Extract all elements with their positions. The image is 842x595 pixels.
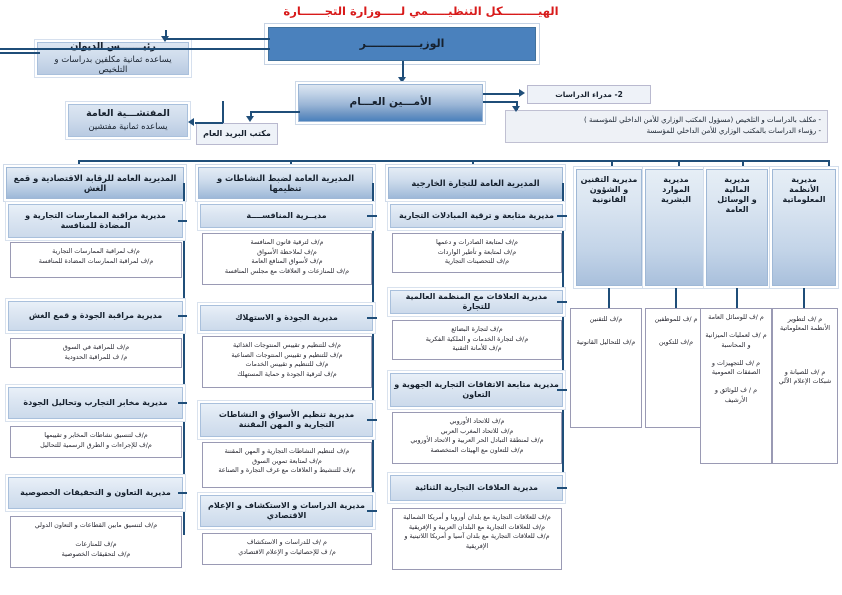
it-detail-1: م /ف للصيانة و شبكات الإعلام الآلي: [777, 368, 833, 387]
dept-detail-it: م /ف لتطوير الأنظمة المعلوماتية م /ف للص…: [772, 308, 838, 464]
arrow-secgen-note: [512, 106, 520, 112]
dept-header-finance[interactable]: مديرية المالية و الوسائل العامة: [706, 169, 768, 286]
node-diwan-subtitle: يساعده ثمانية مكلفين بدراسات و التلخيص: [41, 55, 185, 76]
connector-c3-0: [557, 215, 567, 217]
arrow-minister-secgen: [398, 77, 406, 83]
subdir-detail-c1-2: م/ف لتنسيق نشاطات المخابر و تقييمها م/ف …: [10, 426, 182, 458]
subdir-head-c3-0[interactable]: مديرية متابعة و ترقية المبادلات التجارية: [390, 204, 563, 228]
dept-header-fraud[interactable]: المديرية العامة للرقابة الاقتصادية و قمع…: [6, 167, 184, 199]
connector-spine-drop-5: [678, 160, 680, 168]
subdir-head-c2-3[interactable]: مديرية الدراسات و الاستكشاف و الإعلام ال…: [200, 495, 373, 527]
legal-detail-1: م/ف للتحاليل القانونية: [575, 338, 637, 347]
connector-c1-2: [178, 402, 187, 404]
connector-spine-drop-7: [828, 160, 830, 168]
node-diwan[interactable]: رئيـــــــس الديوان يساعده ثمانية مكلفين…: [37, 42, 189, 75]
subdir-head-c2-0[interactable]: مديــرية المنافســــة: [200, 204, 373, 228]
page-title: الهيـــــــــكل التنظيـــــمي لـــــوزار…: [0, 4, 842, 18]
connector-secgen-right: [483, 93, 521, 95]
subdir-detail-c3-0: م/ف لمتابعة الصادرات و دعمها م/ف لمتابعة…: [392, 233, 562, 273]
subdir-detail-c1-1: م/ف للمراقبة في السوق م/ ف للمراقبة الحد…: [10, 338, 182, 368]
node-mail-office[interactable]: مكتب البريد العام: [196, 123, 278, 145]
connector-minister-left2: [0, 48, 270, 50]
connector-c1-1: [178, 315, 187, 317]
connector-spine: [78, 160, 828, 162]
node-diwan-title: رئيـــــــس الديوان: [70, 41, 156, 53]
connector-c2-0: [367, 215, 377, 217]
dept-detail-hr: م /ف للموظفين م/ف للتكوين: [645, 308, 707, 428]
node-minister[interactable]: الوزيــــــــــــــر: [268, 27, 536, 61]
subdir-detail-c3-2: م/ف للاتحاد الأوروبي م/ف للاتحاد المغرب …: [392, 412, 562, 464]
arrow-minister-diwan: [161, 36, 169, 42]
finance-detail-1: م /ف لعمليات الميزانية و المحاسبة: [705, 331, 767, 350]
subdir-head-c3-3[interactable]: مديرية العلاقات التجارية الثنائية: [390, 475, 563, 501]
finance-detail-3: م / ف للوثائق و الأرشيف: [705, 386, 767, 405]
connector-spine-drop-6: [742, 160, 744, 168]
dept-header-hr[interactable]: مديرية الموارد البشرية: [645, 169, 707, 286]
connector-c2-3: [367, 510, 377, 512]
node-inspection-title: المفتشـــية العامة: [86, 108, 170, 120]
connector-col1-trunk: [183, 183, 185, 535]
connector-c2-1: [367, 317, 377, 319]
dept-header-activities[interactable]: المديرية العامة لضبط النشاطات و تنظيمها: [198, 167, 373, 199]
finance-detail-0: م /ف للوسائل العامة: [705, 313, 767, 322]
subdir-head-c3-1[interactable]: مديرية العلاقات مع المنظمة العالمية للتج…: [390, 290, 563, 314]
node-studies-note: - مكلف بالدراسات و التلخيص (مسؤول المكتب…: [505, 110, 828, 143]
subdir-head-c1-2[interactable]: مديرية مخابر التجارب وتحاليل الجودة: [8, 387, 183, 419]
connector-secgen-insp-v: [222, 101, 224, 123]
subdir-detail-c2-1: م/ف للتنظيم و تقييس المنتوجات الغذائية م…: [202, 336, 372, 388]
subdir-detail-c2-2: م/ف لتنظيم النشاطات التجارية و المهن الم…: [202, 442, 372, 488]
connector-secgen-right2: [483, 101, 518, 103]
legal-detail-0: م/ف للتقنين: [575, 315, 637, 324]
dept-header-foreign-trade[interactable]: المديرية العامة للتجارة الخارجية: [388, 167, 563, 199]
subdir-detail-c2-3: م /ف للدراسات و الاستكشاف م/ ف للإحصائيا…: [202, 533, 372, 565]
dept-header-it[interactable]: مديرية الأنظمة المعلوماتية: [772, 169, 836, 286]
subdir-head-c2-1[interactable]: مديرية الجودة و الاستهلاك: [200, 305, 373, 331]
subdir-head-c1-0[interactable]: مديرية مراقبة الممارسات التجارية و المضا…: [8, 204, 183, 238]
dept-detail-finance: م /ف للوسائل العامة م /ف لعمليات الميزان…: [700, 308, 772, 464]
subdir-head-c1-3[interactable]: مديرية التعاون و التحقيقات الخصوصية: [8, 477, 183, 509]
connector-c1-3: [178, 492, 187, 494]
arrow-insp: [188, 118, 194, 126]
connector-minister-left: [165, 38, 270, 40]
node-secretary-general[interactable]: الأمـــين العـــام: [298, 84, 483, 122]
connector-col3-trunk: [562, 183, 564, 501]
connector-diwan-left: [0, 52, 40, 54]
subdir-head-c3-2[interactable]: مديرية متابعة الاتفاقات التجارية الجهوية…: [390, 373, 563, 407]
subdir-detail-c1-3: م/ف لتنسيق مابين القطاعات و التعاون الدو…: [10, 516, 182, 568]
subdir-detail-c1-0: م/ف لمراقبة الممارسات التجارية م/ف لمراق…: [10, 242, 182, 278]
node-studies-directors[interactable]: 2- مدراء الدراسات: [527, 85, 651, 104]
connector-it-trunk: [803, 288, 805, 308]
connector-hr-trunk: [675, 288, 677, 308]
connector-c1-0: [178, 220, 187, 222]
connector-spine-drop-4: [611, 160, 613, 168]
connector-finance-trunk: [736, 288, 738, 308]
node-inspection-subtitle: يساعده ثمانية مفتشين: [88, 122, 167, 133]
connector-insp-h: [195, 122, 223, 124]
connector-c3-2: [557, 389, 567, 391]
subdir-detail-c2-0: م/ف لترقية قانون المنافسة م/ف لملاحظة ال…: [202, 233, 372, 285]
hr-detail-1: م/ف للتكوين: [650, 338, 702, 347]
connector-secgen-left: [250, 111, 300, 113]
subdir-detail-c3-3: م/ف للعلاقات التجارية مع بلدان أوروبا و …: [392, 508, 562, 570]
arrow-secgen-studies: [519, 89, 525, 97]
dept-header-legal[interactable]: مديرية التقنين و الشؤون القانونية: [576, 169, 642, 286]
subdir-detail-c3-1: م/ف لتجارة البضائع م/ف لتجارة الخدمات و …: [392, 320, 562, 360]
connector-legal-trunk: [608, 288, 610, 308]
finance-detail-2: م /ف للتجهيزات و الصفقات العمومية: [705, 359, 767, 378]
connector-col2-trunk: [372, 183, 374, 519]
connector-c3-1: [557, 301, 567, 303]
connector-c2-2: [367, 419, 377, 421]
subdir-head-c1-1[interactable]: مديرية مراقبة الجودة و قمع الغش: [8, 301, 183, 331]
subdir-head-c2-2[interactable]: مديرية تنظيم الأسواق و النشاطات التجارية…: [200, 403, 373, 437]
it-detail-0: م /ف لتطوير الأنظمة المعلوماتية: [777, 315, 833, 334]
dept-detail-legal: م/ف للتقنين م/ف للتحاليل القانونية: [570, 308, 642, 428]
connector-c3-3: [557, 487, 567, 489]
org-chart-canvas: الهيـــــــــكل التنظيـــــمي لـــــوزار…: [0, 0, 842, 595]
node-inspection-general[interactable]: المفتشـــية العامة يساعده ثمانية مفتشين: [68, 104, 188, 137]
arrow-secgen-mail: [246, 116, 254, 122]
hr-detail-0: م /ف للموظفين: [650, 315, 702, 324]
